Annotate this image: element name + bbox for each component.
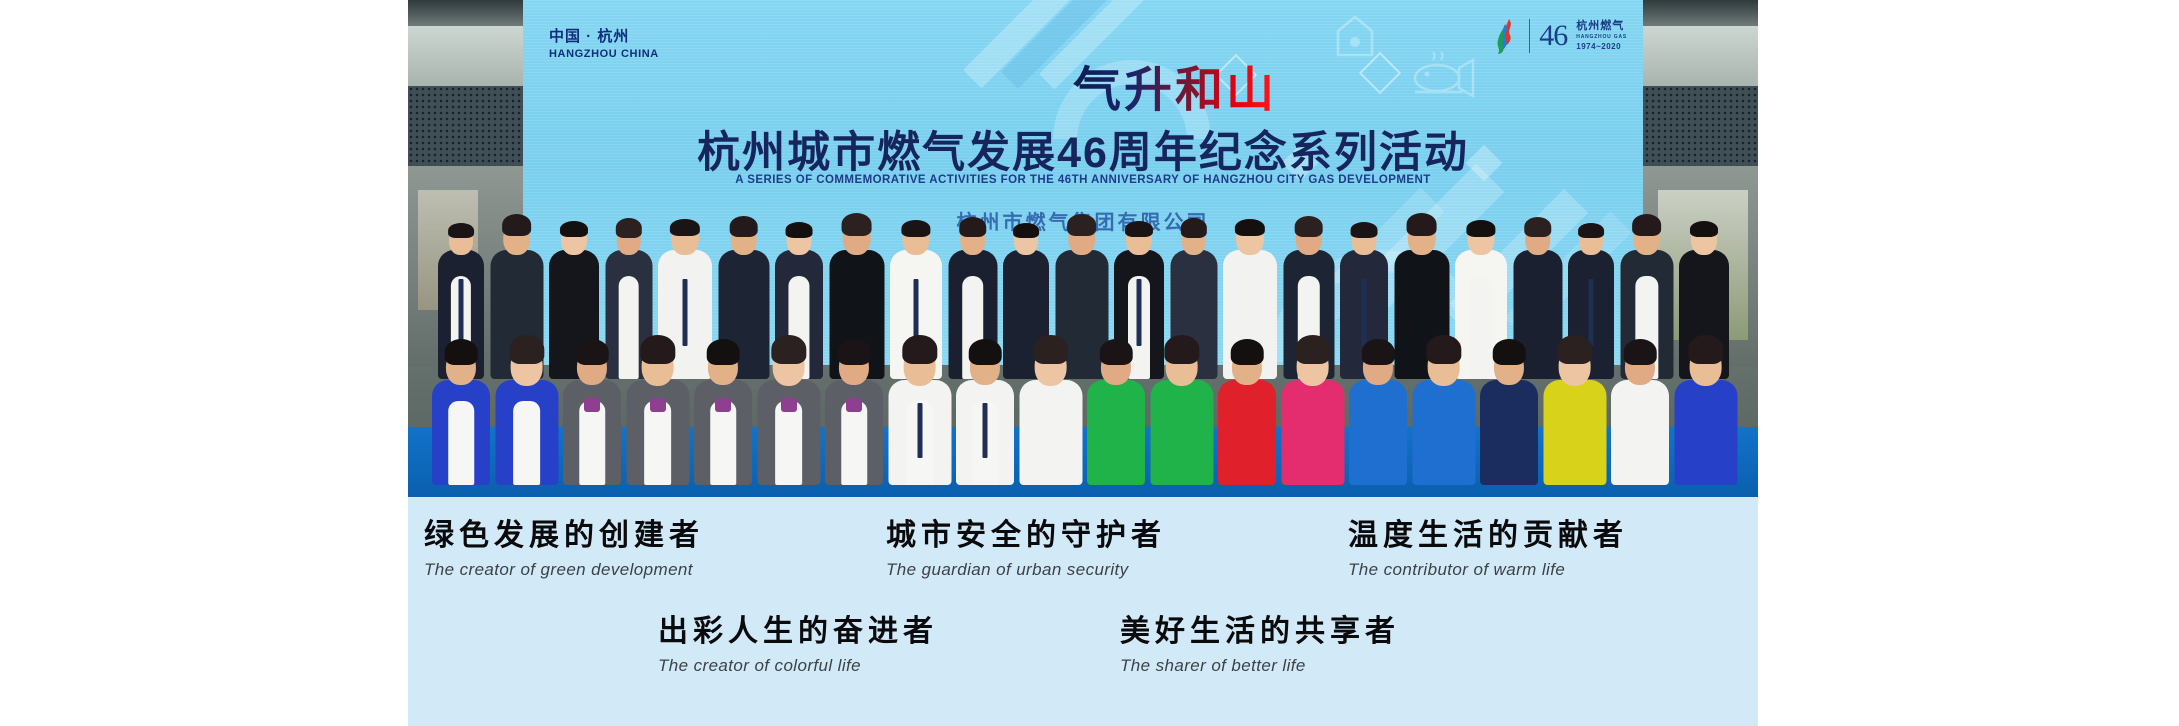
person	[1674, 335, 1737, 485]
person	[1543, 335, 1606, 485]
person-scarf	[584, 398, 600, 412]
person	[1611, 335, 1669, 485]
slogan-en: The creator of green development	[424, 560, 704, 580]
person-hair	[1688, 335, 1723, 363]
person-hair	[1013, 223, 1039, 238]
person-shirt	[841, 401, 867, 485]
person	[626, 335, 689, 485]
person-body	[1281, 380, 1344, 485]
person-hair	[841, 213, 872, 236]
slogan-item-3: 温度生活的贡献者 The contributor of warm life	[1348, 519, 1628, 580]
logo-years: 1974~2020	[1576, 42, 1627, 52]
slogan-item-4: 出彩人生的奋进者 The creator of colorful life	[658, 615, 938, 676]
cooking-pot-icon	[1403, 52, 1475, 100]
person	[1019, 335, 1082, 485]
person-hair	[838, 339, 871, 365]
person-hair	[729, 216, 758, 237]
person-hair	[1231, 339, 1264, 365]
person-hair	[1524, 217, 1552, 237]
group-photo: 中国 · 杭州 HANGZHOU CHINA 46 杭州燃气 HANGZHOU …	[408, 0, 1758, 497]
person-scarf	[715, 398, 731, 412]
person-hair	[1164, 335, 1199, 363]
person-hair	[1180, 218, 1206, 238]
person-hair	[1557, 335, 1592, 363]
person-body	[1019, 380, 1082, 485]
person-hair	[1466, 220, 1495, 237]
person-body	[1611, 380, 1669, 485]
logo-text-block: 杭州燃气 HANGZHOU GAS 1974~2020	[1576, 20, 1627, 52]
person-body	[1218, 380, 1276, 485]
person-hair	[1624, 339, 1657, 365]
person-hair	[1295, 335, 1330, 363]
person-hair	[1426, 335, 1461, 363]
slogan-item-1: 绿色发展的创建者 The creator of green developmen…	[424, 519, 704, 580]
slogan-cn: 绿色发展的创建者	[424, 519, 704, 554]
person-hair	[502, 214, 532, 236]
person-body	[1349, 380, 1407, 485]
person-shirt	[579, 401, 605, 485]
house-icon	[1335, 14, 1375, 58]
location-cn: 中国 · 杭州	[549, 27, 659, 47]
person-hair	[1493, 339, 1526, 365]
person-shirt	[513, 401, 541, 485]
person-hair	[1578, 223, 1604, 238]
person-hair	[445, 339, 478, 365]
person-necktie	[917, 403, 922, 458]
flame-icon	[1494, 18, 1520, 54]
person-shirt	[644, 401, 672, 485]
person-hair	[1406, 213, 1437, 236]
person	[1480, 335, 1538, 485]
anniversary-number: 46	[1539, 21, 1567, 51]
slogan-item-5: 美好生活的共享者 The sharer of better life	[1120, 615, 1400, 676]
person	[1150, 335, 1213, 485]
person-shirt	[775, 401, 803, 485]
person-hair	[1632, 214, 1662, 236]
group-photo-people	[408, 167, 1758, 497]
location-en: HANGZHOU CHINA	[549, 47, 659, 62]
calligraphy-title: 气升和山	[1073, 50, 1277, 120]
person-hair	[1351, 222, 1378, 237]
diamond-outline-decor-2	[1359, 52, 1401, 94]
slogan-item-2: 城市安全的守护者 The guardian of urban security	[886, 519, 1166, 580]
person-hair	[670, 219, 700, 236]
person	[1281, 335, 1344, 485]
person-hair	[1235, 219, 1265, 236]
person-hair	[615, 218, 641, 238]
slogan-cn: 温度生活的贡献者	[1348, 519, 1628, 554]
person-hair	[509, 335, 544, 363]
person-scarf	[650, 398, 666, 412]
person-hair	[640, 335, 675, 363]
person-hair	[448, 223, 474, 238]
person	[495, 335, 558, 485]
person-hair	[901, 220, 930, 237]
person	[1218, 335, 1276, 485]
slogan-en: The sharer of better life	[1120, 656, 1400, 676]
page-root: 中国 · 杭州 HANGZHOU CHINA 46 杭州燃气 HANGZHOU …	[0, 0, 2179, 726]
person	[888, 335, 951, 485]
person-shirt	[448, 401, 474, 485]
person-hair	[959, 217, 987, 237]
person-body	[1674, 380, 1737, 485]
slogan-en: The contributor of warm life	[1348, 560, 1628, 580]
person-hair	[560, 221, 588, 237]
logo-divider	[1529, 19, 1530, 53]
person	[1087, 335, 1145, 485]
person	[1412, 335, 1475, 485]
brand-name-cn: 杭州燃气	[1576, 20, 1627, 34]
content-column: 中国 · 杭州 HANGZHOU CHINA 46 杭州燃气 HANGZHOU …	[408, 0, 1758, 726]
person-hair	[707, 339, 740, 365]
slogan-cn: 美好生活的共享者	[1120, 615, 1400, 650]
person-body	[1480, 380, 1538, 485]
person	[757, 335, 820, 485]
person-hair	[576, 339, 609, 365]
slogan-en: The creator of colorful life	[658, 656, 938, 676]
person	[694, 335, 752, 485]
person-hair	[902, 335, 937, 363]
person-hair	[1100, 339, 1133, 365]
slogan-en: The guardian of urban security	[886, 560, 1166, 580]
person-hair	[1033, 335, 1068, 363]
person	[956, 335, 1014, 485]
person-hair	[1125, 221, 1153, 237]
person	[432, 335, 490, 485]
person-hair	[1294, 216, 1323, 237]
person-hair	[786, 222, 813, 237]
person	[825, 335, 883, 485]
banner-location: 中国 · 杭州 HANGZHOU CHINA	[549, 27, 659, 62]
person-body	[1412, 380, 1475, 485]
person-hair	[969, 339, 1002, 365]
person-scarf	[781, 398, 797, 412]
person-hair	[771, 335, 806, 363]
person-hair	[1067, 214, 1097, 236]
person	[563, 335, 621, 485]
person-shirt	[710, 401, 736, 485]
brand-logo: 46 杭州燃气 HANGZHOU GAS 1974~2020	[1494, 18, 1627, 54]
person-hair	[1362, 339, 1395, 365]
person	[1349, 335, 1407, 485]
person-body	[1087, 380, 1145, 485]
person-necktie	[983, 403, 988, 458]
person-body	[1150, 380, 1213, 485]
slogan-cn: 城市安全的守护者	[886, 519, 1166, 554]
slogan-cn: 出彩人生的奋进者	[658, 615, 938, 650]
slogans-panel: 绿色发展的创建者 The creator of green developmen…	[408, 497, 1758, 726]
person-scarf	[846, 398, 862, 412]
brand-name-en: HANGZHOU GAS	[1576, 34, 1627, 40]
person-body	[1543, 380, 1606, 485]
person-hair	[1690, 221, 1718, 237]
